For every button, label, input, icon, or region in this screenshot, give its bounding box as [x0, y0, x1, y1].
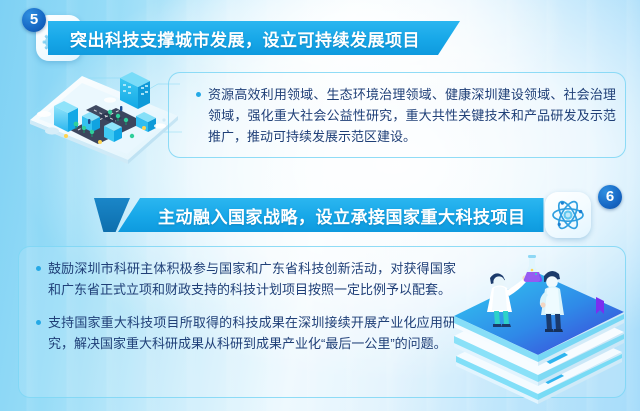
section-header-5-bar: 突出科技支撑城市发展，设立可持续发展项目	[48, 21, 460, 55]
list-item: 支持国家重大科技项目所取得的科技成果在深圳接续开展产业化应用研究，解决国家重大科…	[36, 312, 456, 354]
section-header-5-title: 突出科技支撑城市发展，设立可持续发展项目	[70, 26, 420, 51]
bullet-dot-icon	[196, 92, 201, 97]
section-number-badge-6: 6	[598, 185, 622, 209]
scientists-on-books-illustration	[446, 244, 636, 410]
atom-icon	[550, 197, 586, 233]
smart-city-illustration	[24, 72, 184, 164]
list-item: 鼓励深圳市科研主体积极参与国家和广东省科技创新活动，对获得国家和广东省正式立项和…	[36, 258, 456, 300]
list-item: 资源高效利用领域、生态环境治理领域、健康深圳建设领域、社会治理领域，强化重大社会…	[196, 84, 616, 147]
bullet-text: 资源高效利用领域、生态环境治理领域、健康深圳建设领域、社会治理领域，强化重大社会…	[208, 84, 616, 147]
bullet-text: 支持国家重大科技项目所取得的科技成果在深圳接续开展产业化应用研究，解决国家重大科…	[48, 312, 456, 354]
section-header-5: 突出科技支撑城市发展，设立可持续发展项目	[48, 21, 460, 55]
section-header-6-title: 主动融入国家战略，设立承接国家重大科技项目	[158, 203, 526, 228]
section-5-bullets: 资源高效利用领域、生态环境治理领域、健康深圳建设领域、社会治理领域，强化重大社会…	[196, 84, 616, 159]
section-header-6-bar: 主动融入国家战略，设立承接国家重大科技项目	[118, 198, 544, 232]
bullet-dot-icon	[36, 266, 41, 271]
bullet-dot-icon	[36, 320, 41, 325]
atom-icon-box	[545, 192, 591, 238]
section-number-badge-5: 5	[22, 8, 46, 32]
poster-root: 5 突出科技支撑城市发展，设立可持续发展项目 资源高效利用领域、生态环境治理领域…	[0, 0, 640, 411]
section-6-bullets: 鼓励深圳市科研主体积极参与国家和广东省科技创新活动，对获得国家和广东省正式立项和…	[36, 258, 456, 366]
bullet-text: 鼓励深圳市科研主体积极参与国家和广东省科技创新活动，对获得国家和广东省正式立项和…	[48, 258, 456, 300]
section-header-6: 主动融入国家战略，设立承接国家重大科技项目	[118, 198, 544, 232]
